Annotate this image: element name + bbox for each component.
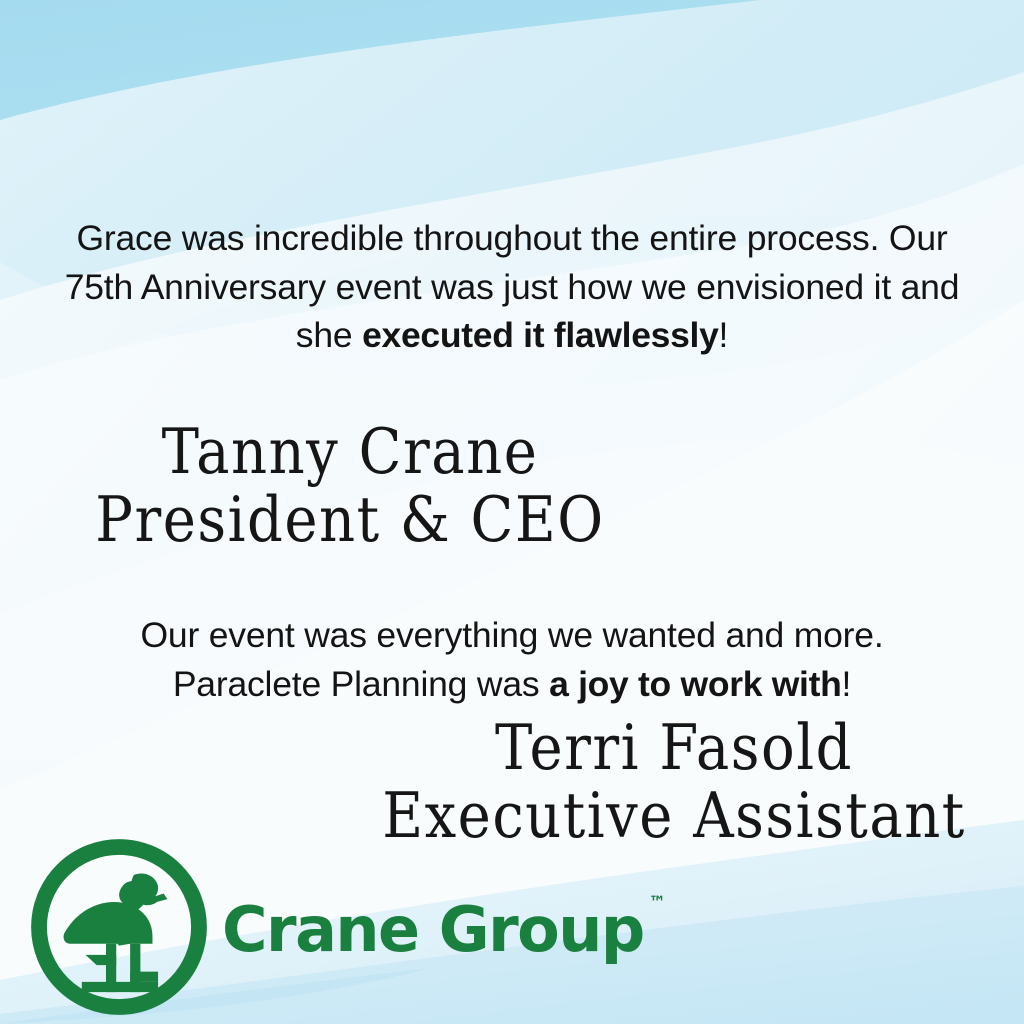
testimonial-attribution-1: Tanny Crane President & CEO xyxy=(0,418,700,555)
quote-2-tail-text: ! xyxy=(842,664,852,704)
author-role-1: President & CEO xyxy=(0,486,700,554)
quote-2-emphasis-text: a joy to work with xyxy=(549,664,841,704)
logo-wordmark-text: Crane Group xyxy=(222,899,644,961)
testimonial-attribution-2: Terri Fasold Executive Assistant xyxy=(324,714,1024,851)
trademark-symbol: ™ xyxy=(649,895,666,912)
crane-bird-in-circle-icon xyxy=(26,834,212,1020)
testimonial-quote-2: Our event was everything we wanted and m… xyxy=(0,611,1024,708)
author-name-1: Tanny Crane xyxy=(0,418,700,486)
testimonial-quote-1: Grace was incredible throughout the enti… xyxy=(0,214,1024,360)
quote-1-emphasis-text: executed it flawlessly xyxy=(362,315,718,355)
quote-1-tail-text: ! xyxy=(719,315,729,355)
author-name-2: Terri Fasold xyxy=(324,714,1024,782)
testimonial-graphic: Grace was incredible throughout the enti… xyxy=(0,0,1024,1024)
crane-group-logo: Crane Group ™ xyxy=(26,834,644,1020)
